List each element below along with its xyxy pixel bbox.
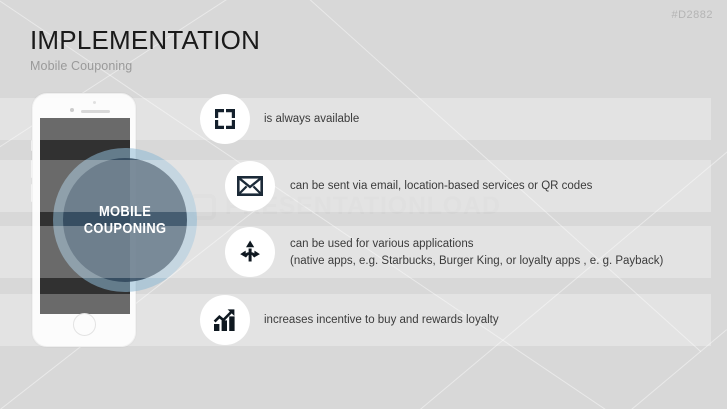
bullet-icon-circle[interactable] [200, 94, 250, 144]
bullet-text: can be sent via email, location-based se… [290, 178, 592, 195]
bullet-icon-circle[interactable] [225, 161, 275, 211]
bullet-icon-circle[interactable] [225, 227, 275, 277]
bullet-text: increases incentive to buy and rewards l… [264, 312, 499, 329]
bullet-row: can be sent via email, location-based se… [0, 160, 711, 212]
bullet-text: is always available [264, 111, 359, 128]
bullet-list: is always available can be sent via emai… [0, 0, 727, 409]
scan-frame-icon [213, 107, 237, 131]
bullet-row: is always available [0, 98, 711, 140]
envelope-icon [237, 176, 263, 196]
bullet-row: increases incentive to buy and rewards l… [0, 294, 711, 346]
bullet-icon-circle[interactable] [200, 295, 250, 345]
branching-arrows-icon [237, 239, 263, 265]
bar-chart-growth-icon [212, 308, 238, 332]
bullet-row: can be used for various applications (na… [0, 226, 711, 278]
bullet-text: can be used for various applications (na… [290, 236, 663, 269]
